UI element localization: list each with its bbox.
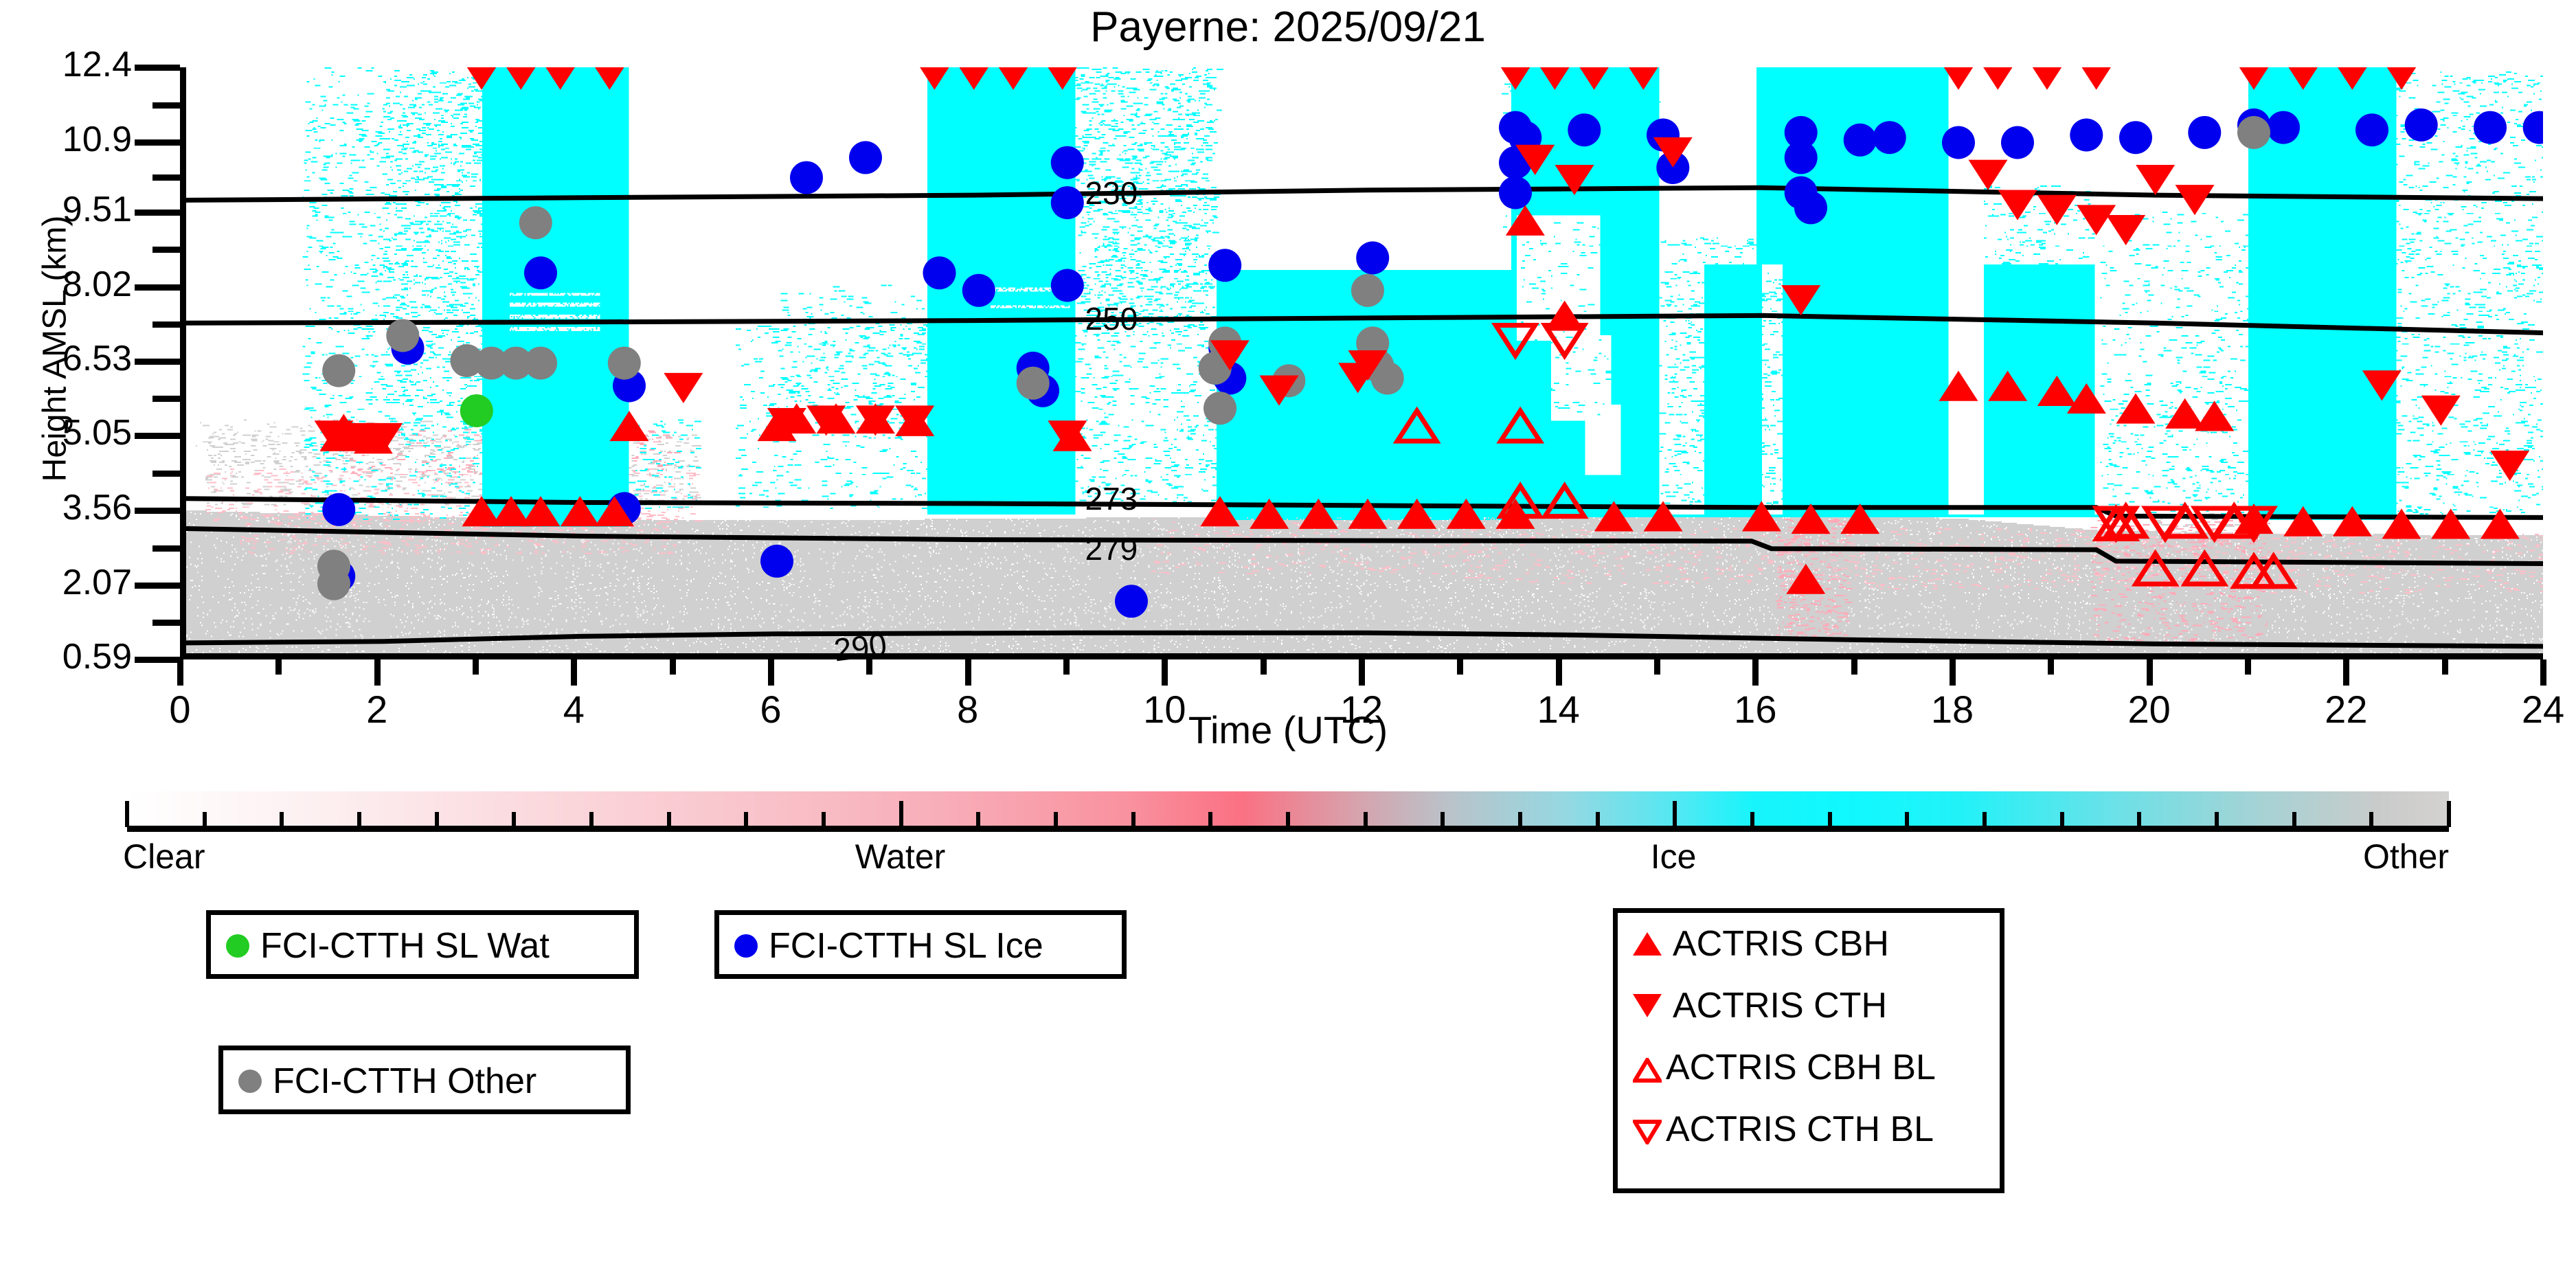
y-tick xyxy=(135,359,180,365)
data-point-cth xyxy=(501,67,541,90)
data-point-circle xyxy=(1051,146,1084,179)
colorbar-label: Clear xyxy=(123,837,205,877)
colorbar-tick xyxy=(589,812,594,827)
colorbar-tick xyxy=(2292,812,2296,827)
data-point-cth xyxy=(2362,370,2402,400)
isotherm-label: 290 xyxy=(832,625,889,668)
data-point-circle xyxy=(760,545,793,578)
colorbar-tick xyxy=(280,812,284,827)
x-tick-minor xyxy=(2048,659,2054,675)
colorbar-tick xyxy=(1131,812,1136,827)
data-point-cbh-bl xyxy=(2136,554,2175,584)
colorbar-tick xyxy=(899,801,903,827)
data-point-cbh-bl xyxy=(2185,554,2224,584)
data-point-cth xyxy=(541,67,580,90)
data-point-cth xyxy=(2028,67,2067,90)
data-point-circle xyxy=(2070,119,2103,152)
data-point-cbh xyxy=(1786,564,1825,594)
data-point-cbh xyxy=(2116,393,2156,423)
data-point-circle xyxy=(2188,116,2221,149)
x-tick xyxy=(571,659,577,686)
blue-circle-icon xyxy=(734,934,758,958)
data-point-circle xyxy=(1785,141,1818,174)
data-point-cth xyxy=(2283,67,2323,90)
isotherm-label: 250 xyxy=(1085,300,1138,337)
data-point-cth xyxy=(2037,195,2077,225)
y-tick xyxy=(135,583,180,589)
data-point-cbh xyxy=(2481,508,2520,539)
data-point-cth xyxy=(1624,67,1663,90)
colorbar-tick xyxy=(1364,812,1368,827)
data-point-cth xyxy=(915,67,954,90)
x-tick-minor xyxy=(2245,659,2251,675)
data-point-cbh xyxy=(1397,499,1436,529)
legend-label: ACTRIS CTH xyxy=(1673,985,1887,1026)
data-point-circle xyxy=(2001,126,2034,159)
data-point-cbh xyxy=(610,411,649,441)
colorbar-tick xyxy=(2215,812,2219,827)
colorbar-tick xyxy=(1982,812,1987,827)
y-tick xyxy=(135,210,180,216)
data-point-cbh xyxy=(2037,376,2077,406)
y-tick xyxy=(135,508,180,514)
colorbar-label: Ice xyxy=(1651,837,1697,877)
colorbar-tick xyxy=(1905,812,1909,827)
colorbar-tick xyxy=(435,812,439,827)
isotherm-label: 279 xyxy=(1085,530,1138,567)
colorbar-tick xyxy=(1596,812,1600,827)
x-tick-minor xyxy=(1457,659,1463,675)
colorbar-tick xyxy=(125,801,129,827)
data-point-cth xyxy=(2490,451,2529,481)
y-tick-minor xyxy=(152,321,180,328)
data-point-cth xyxy=(2382,67,2421,90)
x-tick-label: 10 xyxy=(1103,687,1226,732)
y-tick xyxy=(135,657,180,663)
legend-item: FCI-CTTH SL Wat xyxy=(211,915,634,977)
x-tick-minor xyxy=(1851,659,1857,675)
y-tick-minor xyxy=(152,174,180,181)
data-point-cth xyxy=(1781,285,1820,315)
x-tick-label: 6 xyxy=(709,687,833,732)
colorbar-tick xyxy=(2137,812,2141,827)
data-point-cth xyxy=(2077,67,2116,90)
data-point-cth xyxy=(1978,67,2018,90)
data-point-cth xyxy=(590,67,629,90)
data-point-circle xyxy=(1051,269,1084,302)
legend-fci-ctth-sl-wat[interactable]: FCI-CTTH SL Wat xyxy=(206,910,639,979)
isotherm-line-279 xyxy=(186,529,2543,564)
triangle-up-filled-icon xyxy=(1633,932,1662,956)
colorbar-tick xyxy=(1518,812,1522,827)
data-point-circle xyxy=(524,256,557,289)
data-point-cbh xyxy=(1506,205,1545,236)
triangle-up-open-icon xyxy=(1633,1058,1655,1077)
colorbar-tick xyxy=(1828,812,1832,827)
legend-item-actris-cth: ACTRIS CTH xyxy=(1618,975,2000,1037)
y-tick-label: 6.53 xyxy=(0,338,132,379)
colorbar-tick xyxy=(667,812,671,827)
x-tick-minor xyxy=(473,659,479,675)
colorbar-tick xyxy=(1750,812,1754,827)
legend-label: ACTRIS CBH BL xyxy=(1666,1047,1936,1088)
x-tick-minor xyxy=(275,659,282,675)
data-point-cbh xyxy=(2283,506,2323,536)
legend-fci-ctth-other[interactable]: FCI-CTTH Other xyxy=(218,1046,631,1114)
plot-area xyxy=(180,67,2543,659)
data-point-cbh xyxy=(2165,398,2204,429)
x-tick-minor xyxy=(1063,659,1070,675)
markers-overlay xyxy=(186,67,2543,659)
data-point-circle xyxy=(1499,177,1532,210)
legend-label: ACTRIS CTH BL xyxy=(1666,1109,1934,1150)
legend-item: FCI-CTTH SL Ice xyxy=(719,915,1122,977)
x-tick xyxy=(1162,659,1168,686)
colorbar-tick xyxy=(822,812,826,827)
y-tick-label: 2.07 xyxy=(0,562,132,603)
data-point-cth xyxy=(462,67,501,90)
y-tick-minor xyxy=(152,396,180,402)
y-tick-minor xyxy=(152,102,180,109)
x-tick-label: 14 xyxy=(1497,687,1620,732)
colorbar-tick xyxy=(2060,812,2064,827)
data-point-circle xyxy=(322,354,355,387)
x-tick xyxy=(1359,659,1365,686)
data-point-circle xyxy=(519,206,552,239)
legend-item: FCI-CTTH Other xyxy=(223,1050,626,1112)
data-point-cbh xyxy=(2067,383,2106,414)
data-point-circle xyxy=(386,319,419,352)
data-point-cbh-bl xyxy=(1545,486,1584,517)
legend-item-actris-cth-bl: ACTRIS CTH BL xyxy=(1618,1098,2000,1160)
x-tick xyxy=(768,659,774,686)
data-point-circle xyxy=(1942,126,1975,159)
data-point-circle xyxy=(1794,191,1827,224)
data-point-cbh xyxy=(1201,496,1240,526)
x-tick-label: 18 xyxy=(1890,687,2014,732)
y-tick-label: 3.56 xyxy=(0,487,132,528)
page-title: Payerne: 2025/09/21 xyxy=(0,3,2576,52)
legend-fci-ctth-sl-ice[interactable]: FCI-CTTH SL Ice xyxy=(714,910,1127,979)
green-circle-icon xyxy=(226,934,249,958)
x-tick-label: 20 xyxy=(2088,687,2211,732)
colorbar-tick xyxy=(1673,801,1677,827)
data-point-cbh xyxy=(2431,508,2470,539)
data-point-cth xyxy=(1043,67,1082,90)
colorbar-tick xyxy=(976,812,980,827)
x-tick-label: 0 xyxy=(118,687,242,732)
colorbar-tick xyxy=(357,812,361,827)
colorbar-tick xyxy=(1440,812,1445,827)
x-tick-label: 8 xyxy=(906,687,1030,732)
data-point-cbh xyxy=(1447,499,1486,529)
legend-item-actris-cbh-bl: ACTRIS CBH BL xyxy=(1618,1037,2000,1098)
colorbar-tick xyxy=(1054,812,1058,827)
data-point-cbh xyxy=(2195,400,2234,431)
y-tick-minor xyxy=(152,247,180,253)
data-point-circle xyxy=(1568,113,1601,146)
x-tick-label: 2 xyxy=(315,687,439,732)
data-point-circle xyxy=(1115,585,1148,618)
data-point-circle xyxy=(1017,367,1050,400)
legend-label: ACTRIS CBH xyxy=(1673,923,1889,964)
data-point-cth xyxy=(1496,67,1535,90)
isotherm-line-290 xyxy=(186,633,2543,646)
data-point-circle xyxy=(2405,109,2438,142)
data-point-cth xyxy=(664,373,703,403)
x-tick-minor xyxy=(670,659,676,675)
data-point-cth xyxy=(2421,396,2461,426)
data-point-circle xyxy=(1844,124,1877,157)
x-tick xyxy=(374,659,381,686)
data-point-cth xyxy=(2136,165,2175,195)
isotherm-label: 230 xyxy=(1085,174,1138,212)
legend-actris[interactable]: ACTRIS CBH ACTRIS CTH ACTRIS CBH BL ACTR… xyxy=(1613,908,2004,1193)
colorbar-tick xyxy=(2369,812,2373,827)
data-point-cth xyxy=(1535,67,1574,90)
y-tick xyxy=(135,433,180,439)
y-tick-label: 0.59 xyxy=(0,636,132,677)
legend-label: FCI-CTTH SL Wat xyxy=(260,925,550,967)
data-point-circle xyxy=(317,550,350,583)
x-tick xyxy=(2343,659,2349,686)
data-point-cth xyxy=(2235,67,2274,90)
legend-item-actris-cbh: ACTRIS CBH xyxy=(1618,913,2000,975)
data-point-circle xyxy=(2355,113,2388,146)
data-point-cbh xyxy=(1939,371,1978,401)
data-point-cth-bl xyxy=(1496,326,1535,356)
gray-circle-icon xyxy=(238,1070,262,1093)
data-point-circle xyxy=(962,274,995,307)
y-tick-minor xyxy=(152,471,180,477)
colorbar-tick xyxy=(1286,812,1290,827)
data-point-circle xyxy=(849,141,882,174)
data-point-cth xyxy=(1969,160,2008,190)
x-tick xyxy=(2540,659,2546,686)
data-point-circle xyxy=(1356,241,1389,274)
y-tick-minor xyxy=(152,545,180,552)
legend-label: FCI-CTTH Other xyxy=(273,1061,536,1102)
data-point-circle xyxy=(2474,111,2507,144)
data-point-cth xyxy=(2176,185,2215,215)
x-tick-label: 24 xyxy=(2481,687,2576,732)
y-tick-label: 9.51 xyxy=(0,189,132,230)
isotherm-label: 273 xyxy=(1085,480,1138,517)
data-point-circle xyxy=(2237,116,2270,149)
data-point-cbh-bl xyxy=(1397,411,1436,441)
y-tick xyxy=(135,65,180,71)
colorbar-tick xyxy=(744,812,748,827)
data-point-cth xyxy=(1574,67,1614,90)
data-point-circle xyxy=(1351,274,1384,307)
data-point-circle xyxy=(608,347,641,380)
chart-root: Payerne: 2025/09/21 Height AMSL (km) Tim… xyxy=(0,0,2576,1288)
data-point-cth xyxy=(994,67,1033,90)
x-tick xyxy=(2147,659,2153,686)
colorbar-tick xyxy=(1208,812,1212,827)
x-tick-label: 16 xyxy=(1693,687,1817,732)
triangle-down-filled-icon xyxy=(1633,994,1662,1017)
data-point-circle xyxy=(923,256,956,289)
data-point-circle xyxy=(322,493,355,526)
x-tick-label: 12 xyxy=(1300,687,1423,732)
x-tick-label: 22 xyxy=(2284,687,2408,732)
data-point-circle xyxy=(790,161,823,194)
colorbar-tick xyxy=(2447,801,2451,827)
x-tick xyxy=(1950,659,1956,686)
colorbar-tick xyxy=(203,812,207,827)
data-point-circle xyxy=(2267,111,2300,144)
data-point-circle xyxy=(524,347,557,380)
data-point-cth xyxy=(1939,67,1978,90)
y-tick-label: 10.9 xyxy=(0,119,132,160)
data-point-cth xyxy=(1998,190,2037,220)
data-point-circle xyxy=(2119,121,2152,154)
x-tick-minor xyxy=(1654,659,1660,675)
y-tick xyxy=(135,139,180,146)
data-point-circle xyxy=(2523,111,2543,144)
triangle-down-open-icon xyxy=(1633,1120,1655,1139)
data-point-cbh xyxy=(2382,508,2421,539)
x-tick xyxy=(1556,659,1562,686)
x-tick xyxy=(1752,659,1759,686)
x-tick xyxy=(177,659,183,686)
data-point-cth xyxy=(2106,215,2145,245)
data-point-cbh-bl xyxy=(1501,411,1540,441)
colorbar-label: Other xyxy=(2363,837,2449,877)
data-point-cbh xyxy=(1988,371,2027,401)
legend-label: FCI-CTTH SL Ice xyxy=(769,925,1043,967)
x-tick-minor xyxy=(2442,659,2448,675)
data-point-circle xyxy=(1051,186,1084,219)
data-point-cbh xyxy=(2333,506,2372,536)
y-tick xyxy=(135,284,180,291)
y-tick-label: 12.4 xyxy=(0,44,132,85)
x-tick-label: 4 xyxy=(512,687,635,732)
data-point-circle xyxy=(460,394,493,427)
y-tick-label: 8.02 xyxy=(0,264,132,305)
colorbar-label: Water xyxy=(855,837,946,877)
data-point-cth xyxy=(2333,67,2372,90)
x-tick xyxy=(965,659,971,686)
colorbar-tick xyxy=(512,812,516,827)
x-tick-minor xyxy=(1261,659,1267,675)
y-tick-label: 5.05 xyxy=(0,412,132,453)
data-point-circle xyxy=(1204,392,1236,425)
data-point-circle xyxy=(1208,249,1241,282)
data-point-circle xyxy=(1873,121,1906,154)
data-point-cth xyxy=(954,67,993,90)
y-tick-minor xyxy=(152,620,180,626)
